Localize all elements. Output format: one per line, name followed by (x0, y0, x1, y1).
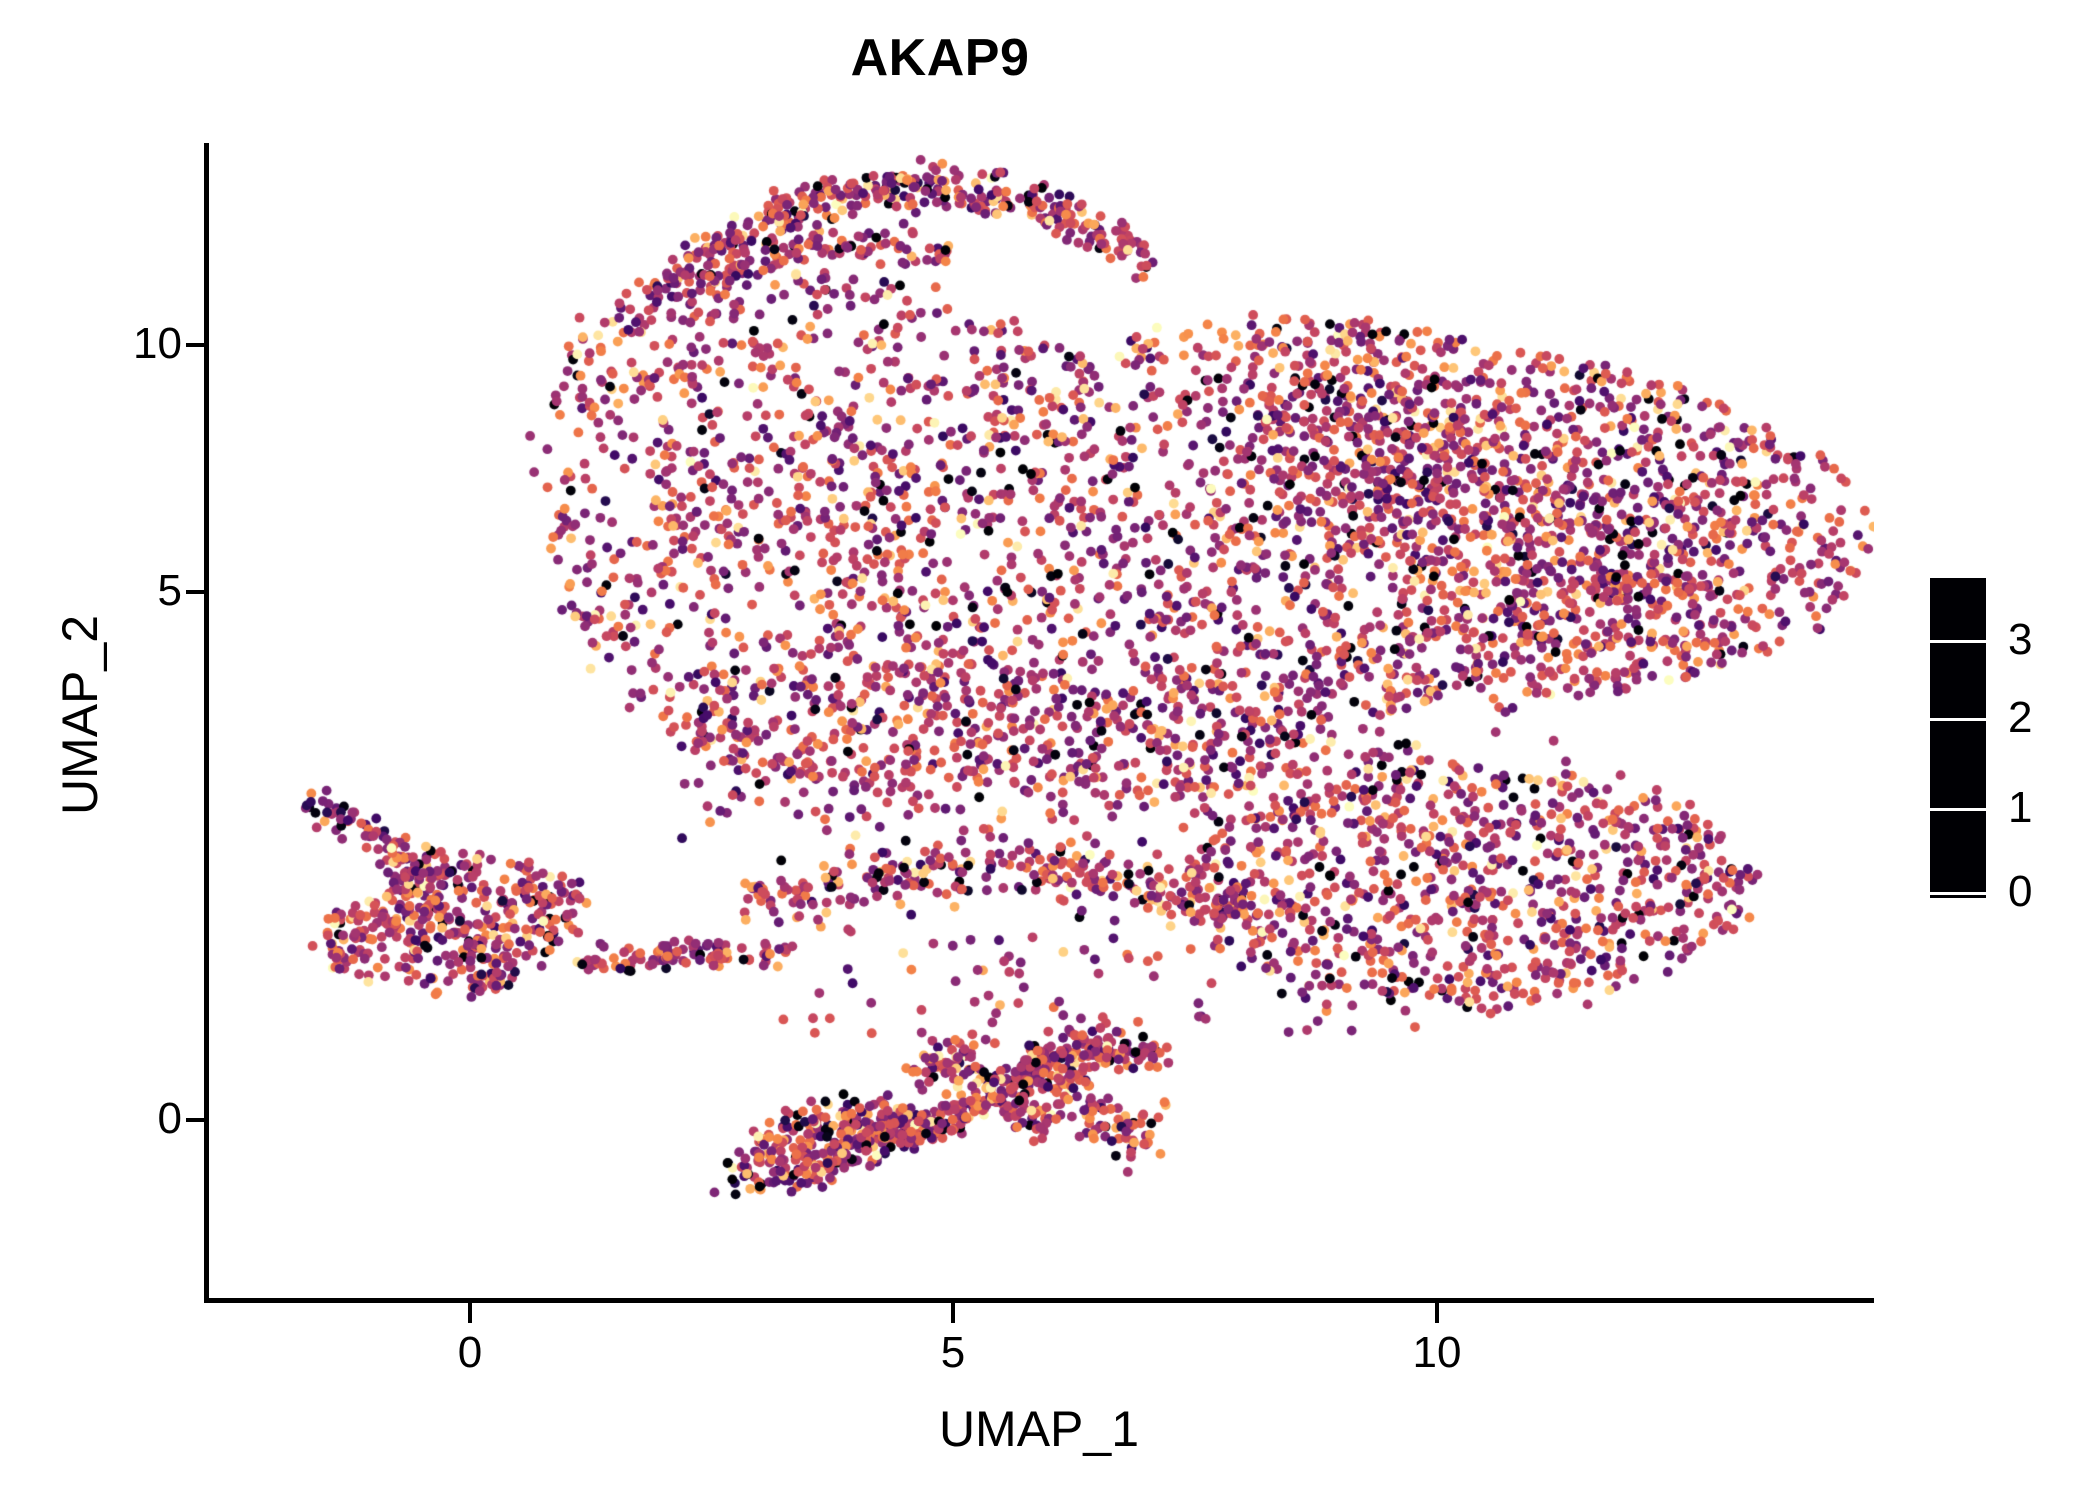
x-axis-label: UMAP_1 (204, 1400, 1874, 1458)
scatter-plot-panel (209, 143, 1874, 1298)
plot-root: AKAP9 10 5 0 0 5 10 UMAP_1 UMAP_2 3 2 1 … (0, 0, 2100, 1500)
x-tick-mark-5 (951, 1303, 955, 1323)
legend-label-0: 0 (2008, 867, 2032, 917)
colorbar-gradient (1930, 578, 1986, 898)
legend-label-1: 1 (2008, 783, 2032, 833)
x-tick-mark-10 (1435, 1303, 1439, 1323)
y-tick-mark-10 (186, 343, 204, 347)
x-tick-label-5: 5 (941, 1328, 965, 1378)
x-axis-line (204, 1298, 1874, 1303)
colorbar-legend: 3 2 1 0 (1930, 578, 2080, 898)
colorbar-tick-0 (1930, 892, 1986, 895)
legend-label-3: 3 (2008, 615, 2032, 665)
y-tick-label-10: 10 (133, 319, 182, 369)
x-tick-label-10: 10 (1413, 1328, 1462, 1378)
x-tick-mark-0 (468, 1303, 472, 1323)
y-tick-label-0: 0 (158, 1094, 182, 1144)
y-tick-mark-0 (186, 1118, 204, 1122)
y-tick-label-5: 5 (158, 566, 182, 616)
x-tick-label-0: 0 (458, 1328, 482, 1378)
colorbar-tick-2 (1930, 718, 1986, 721)
legend-label-2: 2 (2008, 693, 2032, 743)
colorbar-tick-3 (1930, 640, 1986, 643)
y-axis-label: UMAP_2 (51, 215, 109, 1215)
scatter-points-canvas (209, 143, 1874, 1298)
y-tick-mark-5 (186, 590, 204, 594)
colorbar-tick-1 (1930, 808, 1986, 811)
page-title: AKAP9 (0, 28, 1880, 88)
